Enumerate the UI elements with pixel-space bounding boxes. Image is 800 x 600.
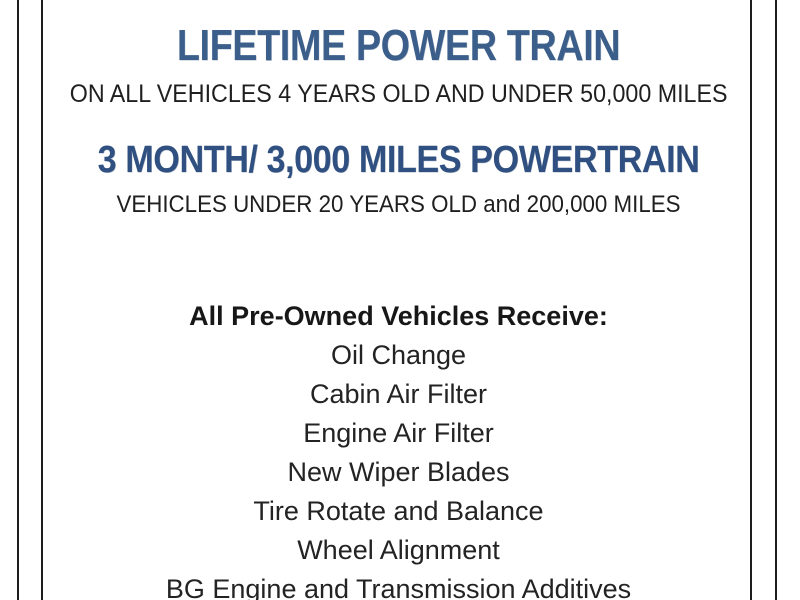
frame-line-left-inner [41,0,43,600]
list-item: New Wiper Blades [45,453,752,492]
list-item: Oil Change [45,336,752,375]
three-month-powertrain-headline: 3 MONTH/ 3,000 MILES POWERTRAIN [80,141,716,179]
services-list-heading: All Pre-Owned Vehicles Receive: [45,297,752,336]
poster-content: LIFETIME POWER TRAIN ON ALL VEHICLES 4 Y… [45,0,752,600]
list-item: Engine Air Filter [45,414,752,453]
list-item: Wheel Alignment [45,531,752,570]
lifetime-powertrain-headline: LIFETIME POWER TRAIN [94,24,702,68]
list-item: BG Engine and Transmission Additives [45,570,752,600]
frame-line-left-outer [17,0,19,600]
list-item: Tire Rotate and Balance [45,492,752,531]
warranty-poster: LIFETIME POWER TRAIN ON ALL VEHICLES 4 Y… [0,0,800,600]
three-month-powertrain-subline: VEHICLES UNDER 20 YEARS OLD and 200,000 … [70,193,728,217]
lifetime-powertrain-subline: ON ALL VEHICLES 4 YEARS OLD AND UNDER 50… [70,82,728,107]
frame-line-right-outer [775,0,777,600]
list-item: Cabin Air Filter [45,375,752,414]
services-list: All Pre-Owned Vehicles Receive: Oil Chan… [45,297,752,600]
